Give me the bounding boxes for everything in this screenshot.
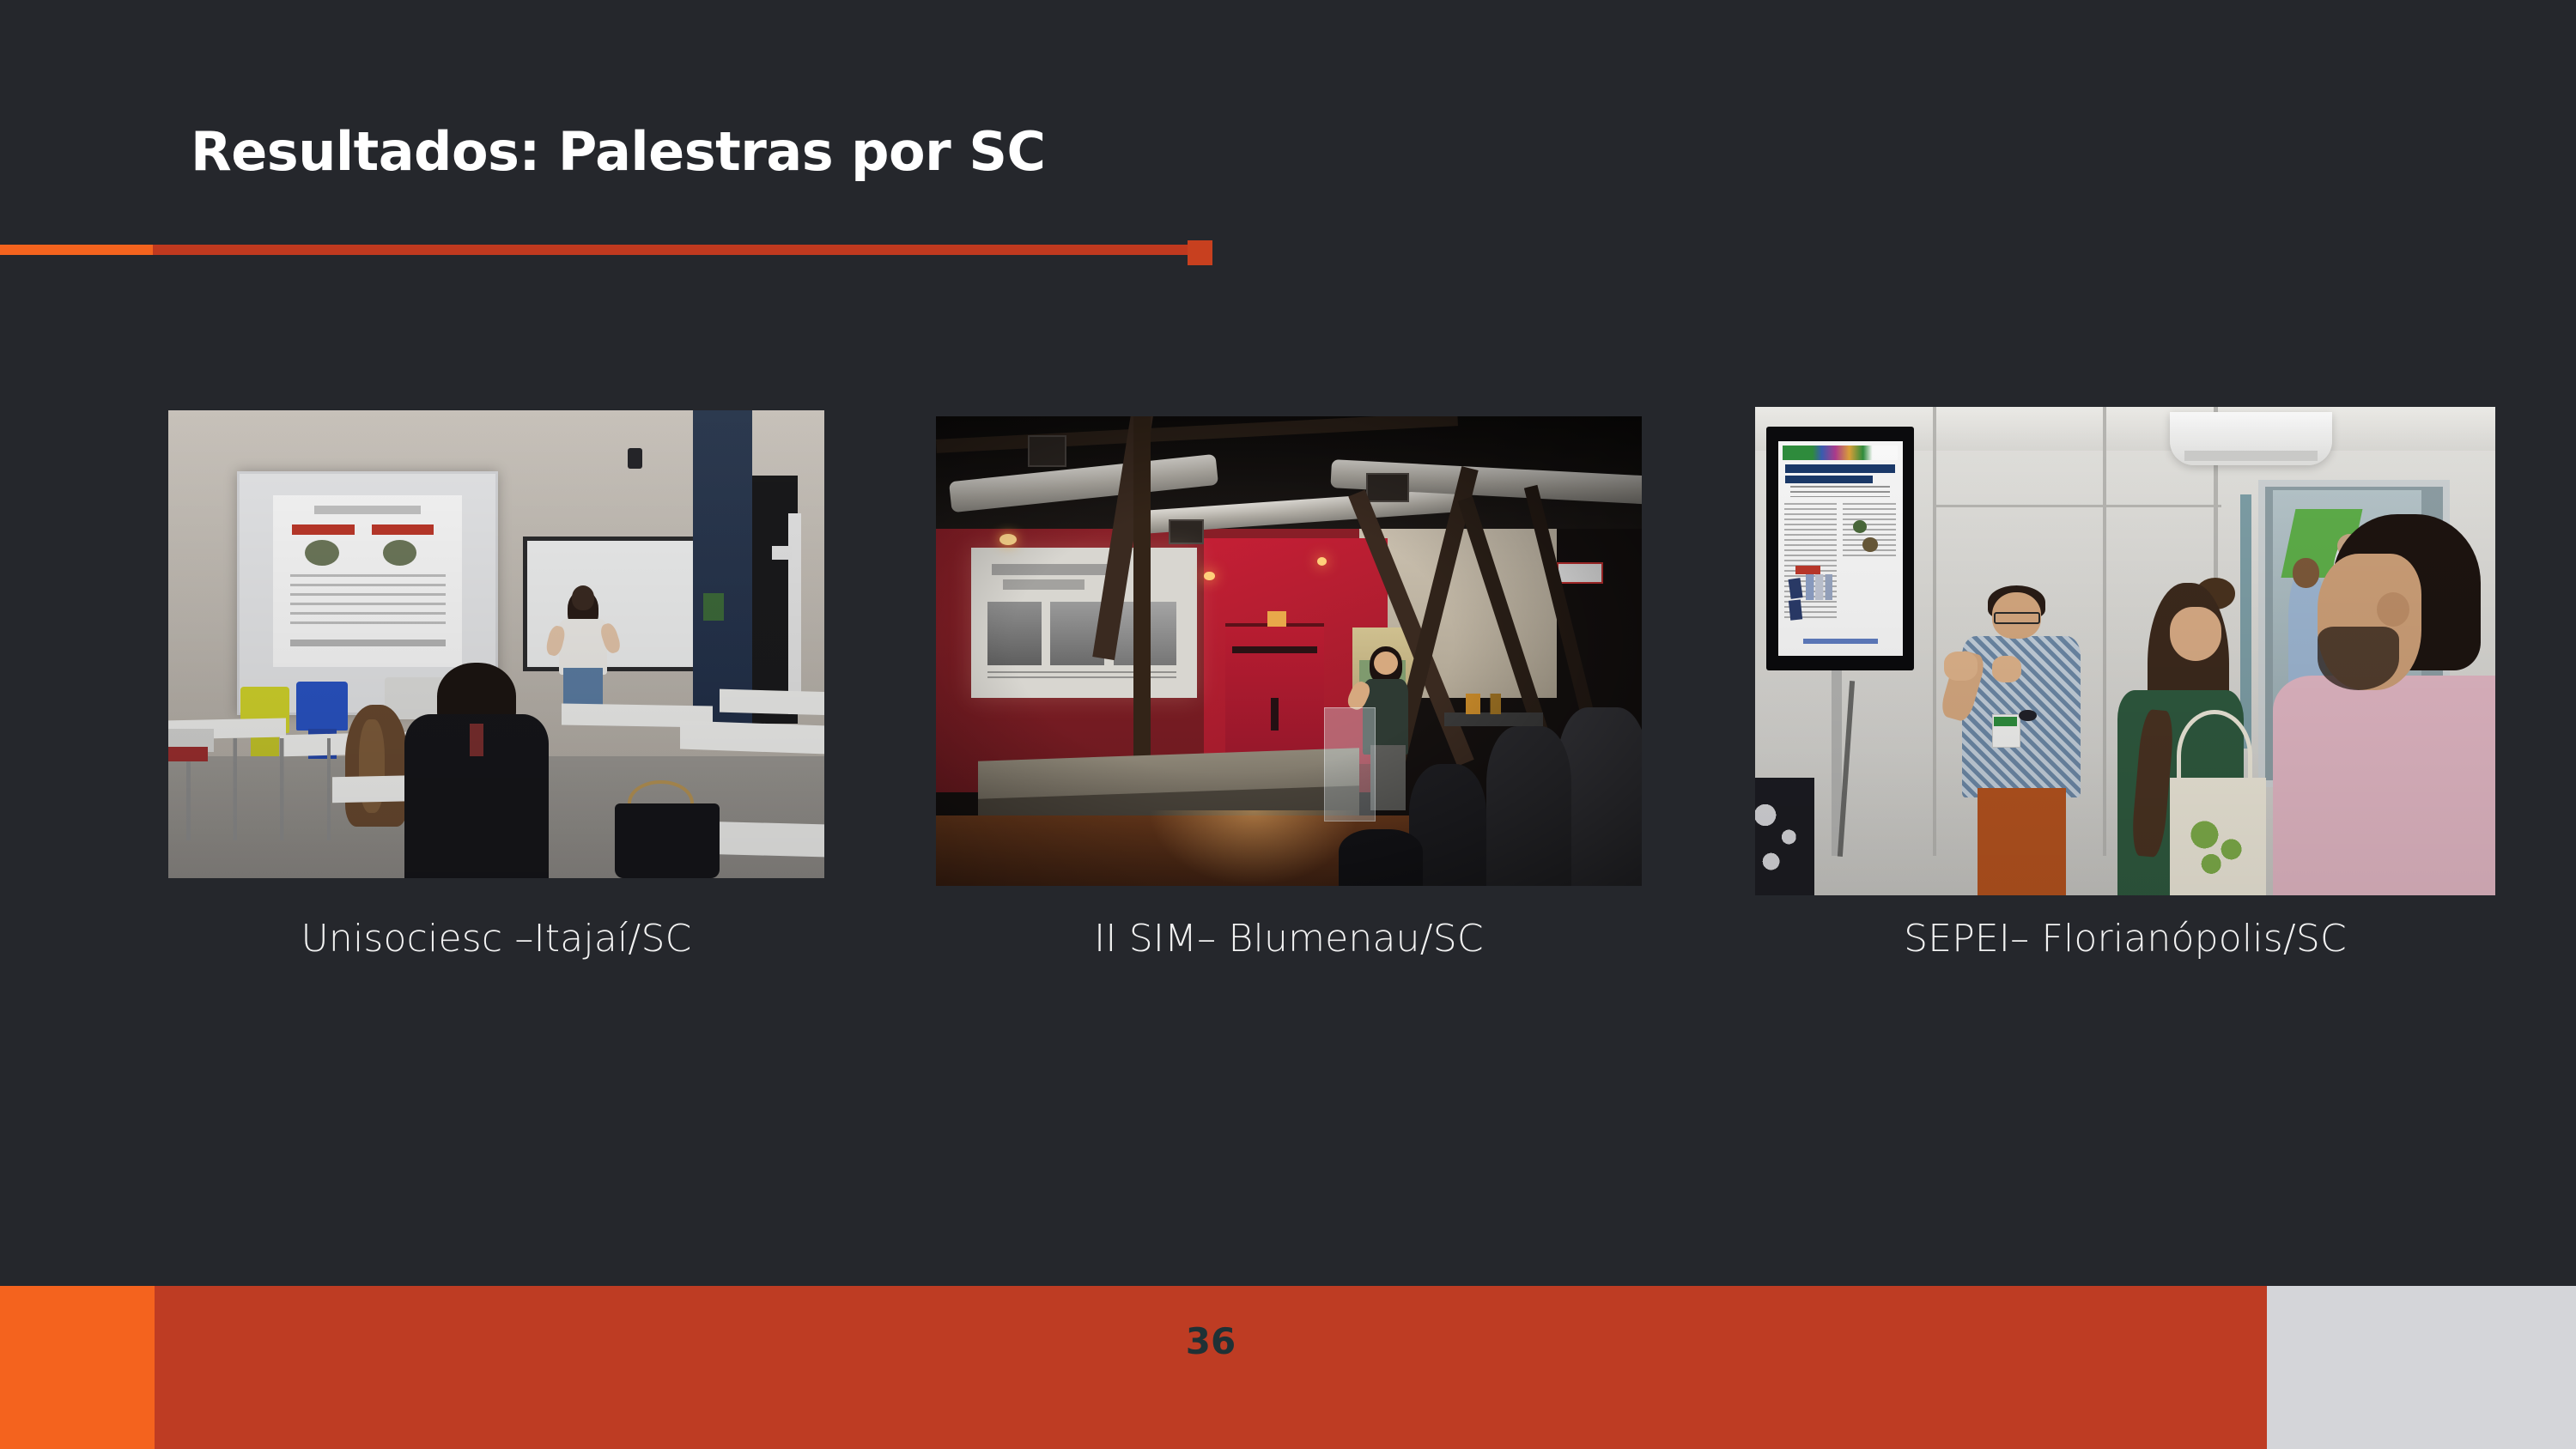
page-title: Resultados: Palestras por SC <box>191 120 1045 183</box>
photo-unisociesc <box>168 410 824 878</box>
presentation-slide: Resultados: Palestras por SC <box>0 0 2576 1449</box>
slide-footer: 36 <box>0 1286 2576 1449</box>
caption-sepei: SEPEI– Florianópolis/SC <box>1755 917 2495 961</box>
photo-sepei <box>1755 407 2495 895</box>
footer-orange-band <box>0 1286 155 1449</box>
title-accent-rule <box>0 240 1212 270</box>
photo-ii-sim <box>936 416 1642 886</box>
footer-gray-band <box>2267 1286 2576 1449</box>
page-number: 36 <box>155 1320 2267 1362</box>
caption-ii-sim: II SIM– Blumenau/SC <box>936 917 1642 961</box>
accent-segment-orange <box>0 245 153 255</box>
accent-segment-red <box>153 245 1188 255</box>
footer-red-band <box>155 1286 2267 1449</box>
caption-unisociesc: Unisociesc –Itajaí/SC <box>168 917 824 961</box>
accent-end-cap <box>1188 240 1212 265</box>
